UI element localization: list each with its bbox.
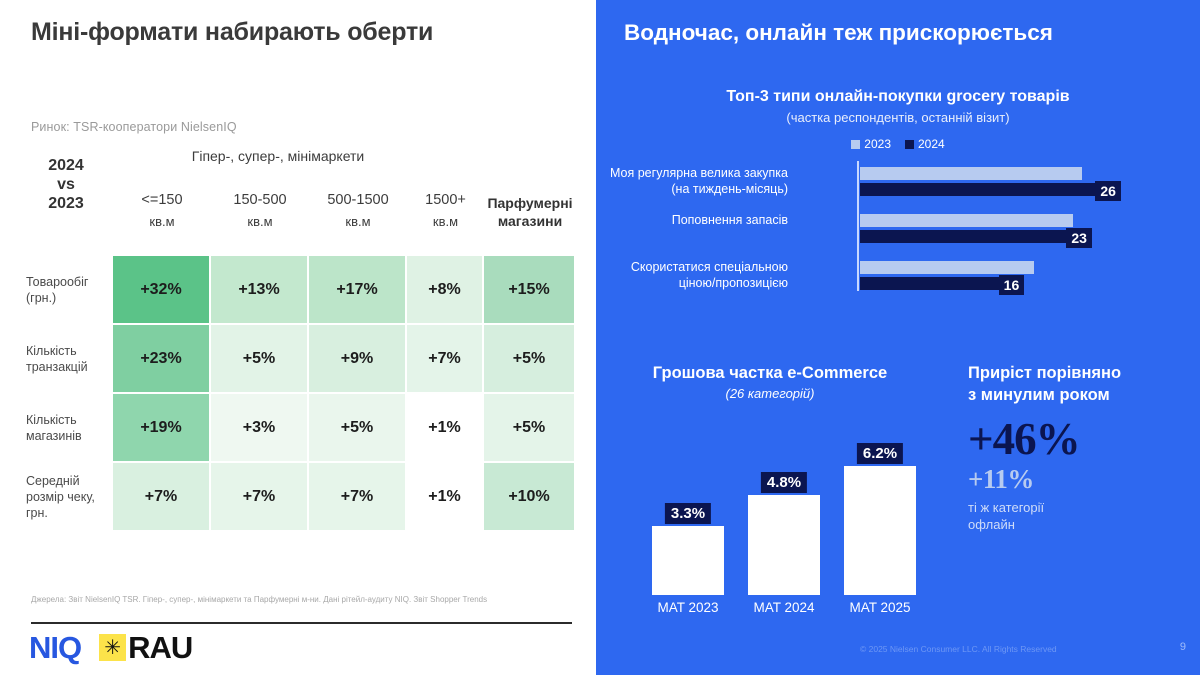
ecommerce-bar — [748, 495, 820, 595]
table-cell: +7% — [113, 463, 209, 530]
bar-2023 — [860, 167, 1082, 180]
table-row: Середній розмір чеку, грн.+7%+7%+7%+1%+1… — [113, 463, 576, 530]
source-note: Джерела: Звіт NielsenIQ TSR. Гіпер-, суп… — [31, 594, 531, 605]
ecommerce-bar-chart: 3.3%4.8%6.2% — [652, 420, 942, 595]
table-cell: +3% — [211, 394, 307, 461]
growth-secondary-value: +11% — [968, 464, 1188, 494]
legend-item-2024: 2024 — [905, 137, 945, 151]
table-row: Кількість магазинів+19%+3%+5%+1%+5% — [113, 394, 576, 461]
table-cell: +9% — [309, 325, 405, 392]
slide: Міні-формати набирають оберти Ринок: TSR… — [0, 0, 1200, 675]
ecommerce-bar-column: 4.8% — [748, 420, 820, 595]
column-header-3-upper: 1500+ — [407, 190, 484, 211]
bar-2024 — [860, 230, 1082, 243]
bar-category-label: Моя регулярна велика закупка(на тиждень-… — [588, 165, 788, 197]
bar-2024 — [860, 183, 1111, 196]
column-header-1: 150-500 кв.м — [211, 190, 309, 232]
ecommerce-chart-title: Грошова частка e-Commerce — [610, 364, 930, 383]
growth-callout: Приріст порівняно з минулим роком +46% +… — [968, 362, 1188, 533]
table-corner-label: 2024 vs 2023 — [20, 156, 112, 213]
page-number: 9 — [1180, 641, 1186, 653]
column-header-4-upper: Парфумерні — [484, 194, 576, 212]
legend-item-2023: 2023 — [851, 137, 891, 151]
growth-heading: Приріст порівняно з минулим роком — [968, 362, 1188, 406]
ecommerce-bar-column: 3.3% — [652, 420, 724, 595]
column-header-0-upper: <=150 — [113, 190, 211, 211]
logo-row: NIQ ✳ RAU — [29, 632, 192, 663]
ecommerce-x-label: MAT 2025 — [844, 600, 916, 615]
bar-group: Поповнення запасів23 — [620, 212, 1180, 256]
table-cell: +8% — [407, 256, 482, 323]
column-header-4: Парфумерні магазини — [484, 190, 576, 232]
table-cell: +15% — [484, 256, 574, 323]
table-cell: +5% — [309, 394, 405, 461]
column-header-3: 1500+ кв.м — [407, 190, 484, 232]
table-row: Кількість транзакцій+23%+5%+9%+7%+5% — [113, 325, 576, 392]
star-icon: ✳ — [104, 638, 121, 658]
horizontal-bar-groups: Моя регулярна велика закупка(на тиждень-… — [620, 165, 1180, 303]
corner-line-1: 2024 — [20, 156, 112, 175]
table-row-label: Середній розмір чеку, грн. — [20, 463, 110, 530]
table-body: Товарообіг (грн.)+32%+13%+17%+8%+15%Кіль… — [113, 256, 576, 532]
table-cell: +17% — [309, 256, 405, 323]
left-panel: Міні-формати набирають оберти Ринок: TSR… — [0, 0, 596, 675]
corner-line-2: vs — [20, 175, 112, 194]
growth-heading-line-2: з минулим роком — [968, 384, 1188, 406]
legend-swatch-2023 — [851, 140, 860, 149]
growth-note-line-1: ті ж категорії — [968, 499, 1188, 516]
table-cell: +23% — [113, 325, 209, 392]
table-row: Товарообіг (грн.)+32%+13%+17%+8%+15% — [113, 256, 576, 323]
ecommerce-x-label: MAT 2024 — [748, 600, 820, 615]
legend-swatch-2024 — [905, 140, 914, 149]
column-header-0-lower: кв.м — [113, 211, 211, 232]
bar-2023 — [860, 214, 1073, 227]
column-header-1-upper: 150-500 — [211, 190, 309, 211]
bar-group: Моя регулярна велика закупка(на тиждень-… — [620, 165, 1180, 209]
column-header-2-lower: кв.м — [309, 211, 407, 232]
ecommerce-bar — [844, 466, 916, 595]
table-cell: +1% — [407, 394, 482, 461]
ecommerce-bar-column: 6.2% — [844, 420, 916, 595]
ecommerce-bar-value-label: 6.2% — [857, 443, 903, 464]
rau-wordmark: RAU — [128, 632, 192, 663]
table-cell: +5% — [484, 394, 574, 461]
table-group-header: Гіпер-, супер-, мінімаркети — [113, 148, 443, 164]
growth-note-line-2: офлайн — [968, 516, 1188, 533]
table-cell: +32% — [113, 256, 209, 323]
growth-primary-value: +46% — [968, 414, 1188, 464]
bar-2023 — [860, 261, 1034, 274]
bar-category-label: Поповнення запасів — [588, 212, 788, 228]
bar-category-label: Скористатися спеціальноюціною/пропозиціє… — [588, 259, 788, 291]
column-header-1-lower: кв.м — [211, 211, 309, 232]
table-cell: +7% — [211, 463, 307, 530]
niq-logo: NIQ — [29, 632, 81, 663]
table-cell: +13% — [211, 256, 307, 323]
column-header-0: <=150 кв.м — [113, 190, 211, 232]
ecommerce-x-label: MAT 2023 — [652, 600, 724, 615]
online-chart-subtitle: (частка респондентів, останній візит) — [596, 110, 1200, 125]
right-panel: Водночас, онлайн теж прискорюється Топ-3… — [596, 0, 1200, 675]
bar-value-label: 23 — [1066, 228, 1092, 248]
table-row-label: Товарообіг (грн.) — [20, 256, 110, 323]
column-header-4-lower: магазини — [484, 212, 576, 230]
table-cell: +10% — [484, 463, 574, 530]
ecommerce-bar-value-label: 4.8% — [761, 472, 807, 493]
ecommerce-chart-subtitle: (26 категорій) — [610, 386, 930, 401]
column-header-2-upper: 500-1500 — [309, 190, 407, 211]
online-horizontal-bar-chart: Моя регулярна велика закупка(на тиждень-… — [620, 165, 1180, 305]
bar-group: Скористатися спеціальноюціною/пропозиціє… — [620, 259, 1180, 303]
ecommerce-bar-value-label: 3.3% — [665, 503, 711, 524]
column-header-3-lower: кв.м — [407, 211, 484, 232]
table-column-headers: <=150 кв.м 150-500 кв.м 500-1500 кв.м 15… — [113, 190, 576, 232]
table-row-label: Кількість магазинів — [20, 394, 110, 461]
table-cell: +5% — [484, 325, 574, 392]
column-header-2: 500-1500 кв.м — [309, 190, 407, 232]
growth-note: ті ж категорії офлайн — [968, 499, 1188, 533]
online-chart-title: Топ-3 типи онлайн-покупки grocery товарі… — [596, 88, 1200, 106]
bar-2024 — [860, 277, 1015, 290]
table-cell: +7% — [407, 325, 482, 392]
market-source-line: Ринок: TSR-кооператори NielsenIQ — [31, 120, 237, 134]
table-cell: +5% — [211, 325, 307, 392]
left-panel-title: Міні-формати набирають оберти — [31, 18, 433, 47]
right-panel-title: Водночас, онлайн теж прискорюється — [624, 20, 1053, 46]
table-cell: +1% — [407, 463, 482, 530]
bar-pair — [860, 214, 1082, 246]
bar-pair — [860, 167, 1111, 199]
corner-line-3: 2023 — [20, 194, 112, 213]
legend-label-2023: 2023 — [864, 137, 891, 151]
footer-divider — [31, 622, 572, 624]
legend-label-2024: 2024 — [918, 137, 945, 151]
bar-value-label: 26 — [1095, 181, 1121, 201]
table-cell: +7% — [309, 463, 405, 530]
table-row-label: Кількість транзакцій — [20, 325, 110, 392]
bar-value-label: 16 — [999, 275, 1025, 295]
online-chart-legend: 2023 2024 — [596, 137, 1200, 151]
table-cell: +19% — [113, 394, 209, 461]
ecommerce-bar — [652, 526, 724, 595]
copyright-text: © 2025 Nielsen Consumer LLC. All Rights … — [860, 644, 1057, 654]
ecommerce-x-axis-labels: MAT 2023MAT 2024MAT 2025 — [652, 600, 942, 615]
rau-star-badge: ✳ — [99, 634, 126, 661]
rau-logo: ✳ RAU — [99, 632, 192, 663]
growth-heading-line-1: Приріст порівняно — [968, 362, 1188, 384]
